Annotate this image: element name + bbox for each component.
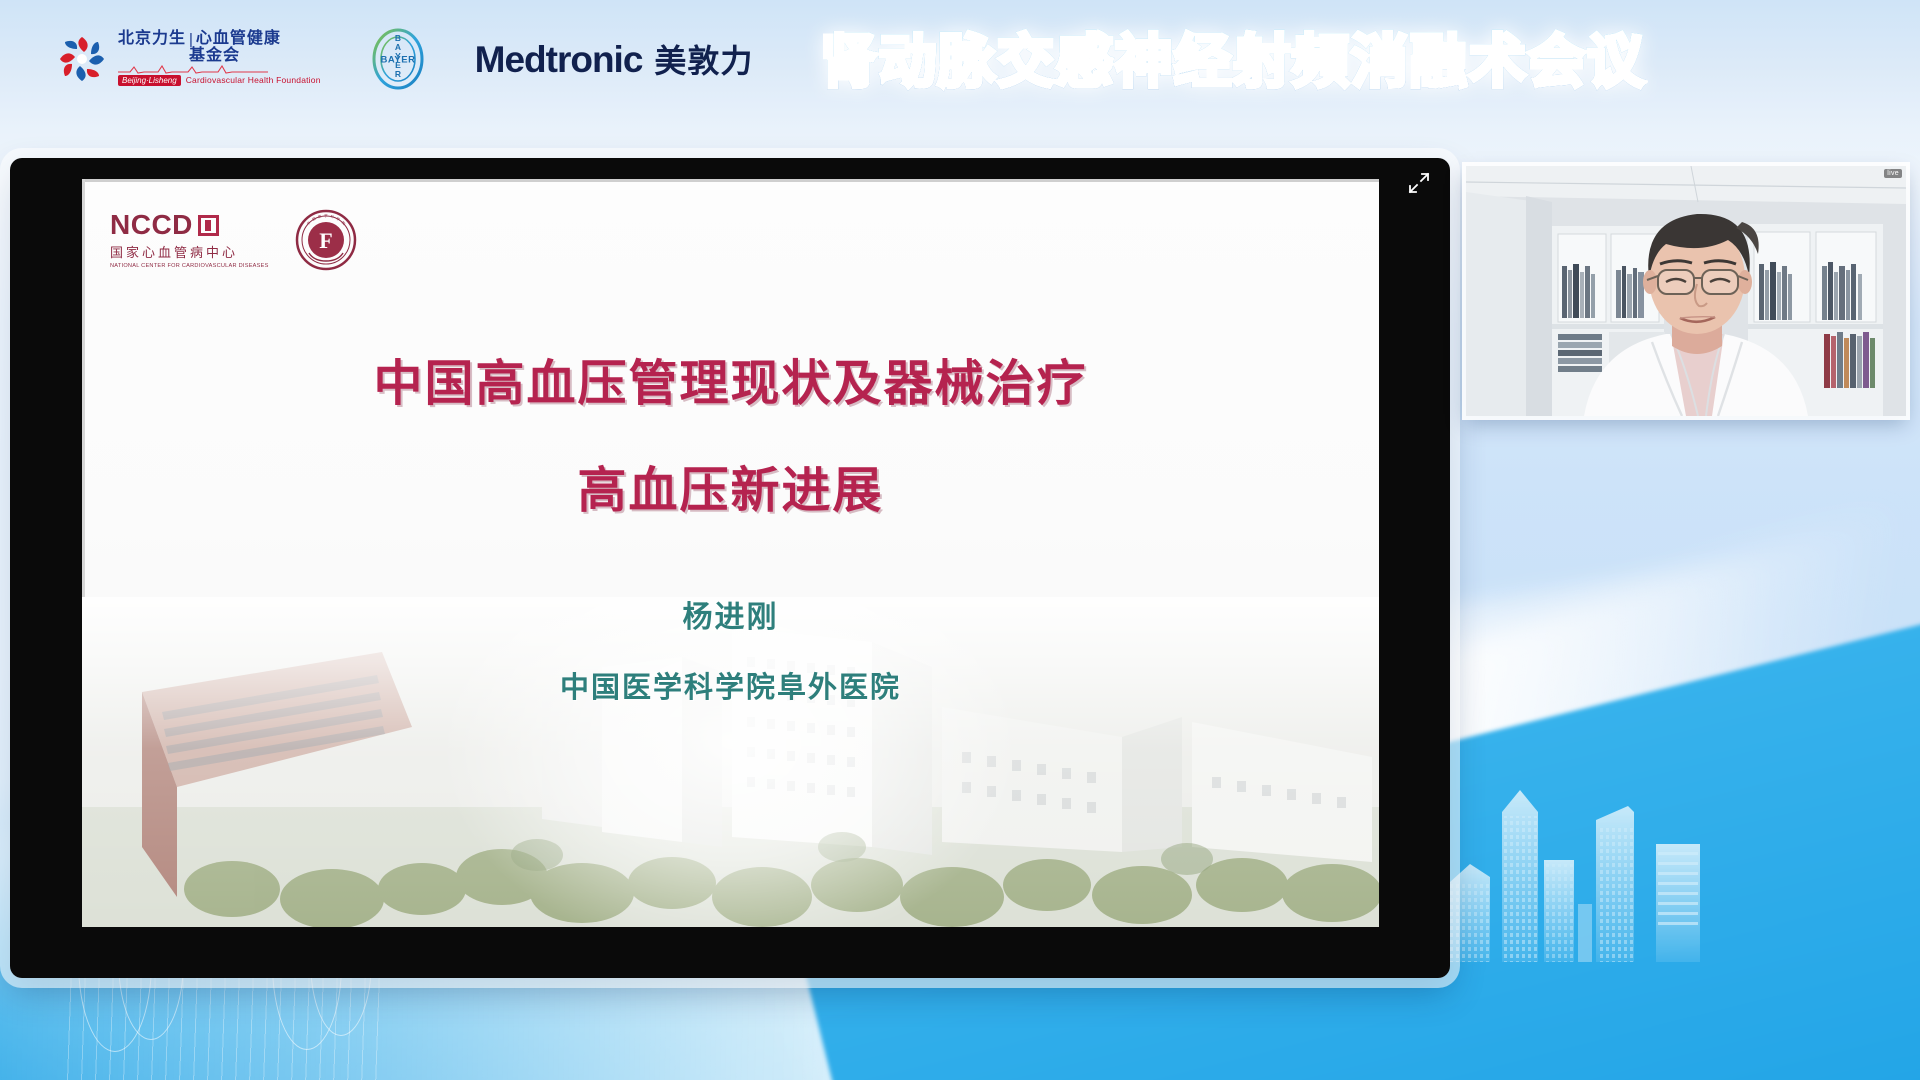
fuwai-hospital-seal-icon: F 中 国 医 学 科 学 院 bbox=[295, 209, 357, 271]
lisheng-en-subtitle: Cardiovascular Health Foundation bbox=[186, 75, 321, 85]
nccd-cn-label: 国家心血管病中心 bbox=[110, 242, 269, 261]
webcam-video-frame bbox=[1466, 166, 1906, 416]
exit-fullscreen-icon[interactable] bbox=[1406, 170, 1432, 196]
skyline-graphic bbox=[1420, 772, 1800, 962]
nccd-wordmark: NCCD bbox=[110, 211, 193, 239]
svg-text:R: R bbox=[395, 69, 401, 79]
event-title: 肾动脉交感神经射频消融术会议 bbox=[820, 16, 1646, 98]
lisheng-cn-line1: 北京力生 bbox=[118, 31, 186, 48]
ecg-line-icon bbox=[118, 65, 268, 74]
medtronic-wordmark: Medtronic bbox=[475, 39, 643, 81]
slide-logo-group: NCCD 国家心血管病中心 NATIONAL CENTER FOR CARDIO… bbox=[110, 209, 357, 271]
broadcast-header: 北京力生 | 心血管健康 北京力生 基金会 Beijing·Lisheng Ca… bbox=[0, 0, 1920, 118]
svg-text:中: 中 bbox=[305, 220, 311, 226]
slide-speaker-affiliation: 中国医学科学院阜外医院 bbox=[82, 664, 1379, 706]
lisheng-badge: Beijing·Lisheng bbox=[118, 75, 181, 86]
slide-top-rule bbox=[82, 179, 1379, 182]
lisheng-wordmark: 北京力生 | 心血管健康 北京力生 基金会 Beijing·Lisheng Ca… bbox=[118, 31, 321, 86]
svg-text:F: F bbox=[319, 228, 332, 253]
webcam-badge: live bbox=[1884, 169, 1902, 178]
medtronic-cn: 美敦力 bbox=[654, 36, 753, 82]
lisheng-cn-line2: 心血管健康 bbox=[196, 31, 281, 48]
broadcast-stage: 北京力生 | 心血管健康 北京力生 基金会 Beijing·Lisheng Ca… bbox=[0, 0, 1920, 1080]
svg-text:科: 科 bbox=[330, 213, 335, 219]
lisheng-flower-icon bbox=[54, 31, 110, 87]
campus-photo-glow bbox=[445, 597, 1016, 927]
sponsor-logo-beijing-lisheng: 北京力生 | 心血管健康 北京力生 基金会 Beijing·Lisheng Ca… bbox=[54, 31, 321, 87]
sponsor-logo-group: 北京力生 | 心血管健康 北京力生 基金会 Beijing·Lisheng Ca… bbox=[0, 28, 753, 90]
lisheng-cn-line3: 基金会 bbox=[189, 48, 240, 65]
svg-text:BAYER: BAYER bbox=[380, 55, 415, 66]
slide-title-line-1: 中国高血压管理现状及器械治疗 bbox=[82, 344, 1379, 415]
campus-photo bbox=[82, 597, 1379, 927]
slide-speaker-name: 杨进刚 bbox=[82, 592, 1379, 636]
sponsor-logo-bayer: B A Y E R BAYER bbox=[367, 28, 429, 90]
nccd-logo: NCCD 国家心血管病中心 NATIONAL CENTER FOR CARDIO… bbox=[110, 211, 269, 269]
presentation-slide: NCCD 国家心血管病中心 NATIONAL CENTER FOR CARDIO… bbox=[82, 179, 1379, 927]
svg-text:院: 院 bbox=[340, 220, 346, 226]
speaker-webcam-tile[interactable]: live bbox=[1466, 166, 1906, 416]
slide-title-line-2: 高血压新进展 bbox=[82, 451, 1379, 522]
nccd-square-icon bbox=[198, 215, 219, 236]
lisheng-en-row: Beijing·Lisheng Cardiovascular Health Fo… bbox=[118, 75, 321, 86]
slide-player[interactable]: NCCD 国家心血管病中心 NATIONAL CENTER FOR CARDIO… bbox=[10, 158, 1450, 978]
svg-text:学: 学 bbox=[324, 213, 328, 218]
sponsor-logo-medtronic: Medtronic 美敦力 bbox=[475, 36, 754, 82]
nccd-en-label: NATIONAL CENTER FOR CARDIOVASCULAR DISEA… bbox=[110, 263, 269, 269]
nccd-logo-row: NCCD bbox=[110, 211, 269, 239]
